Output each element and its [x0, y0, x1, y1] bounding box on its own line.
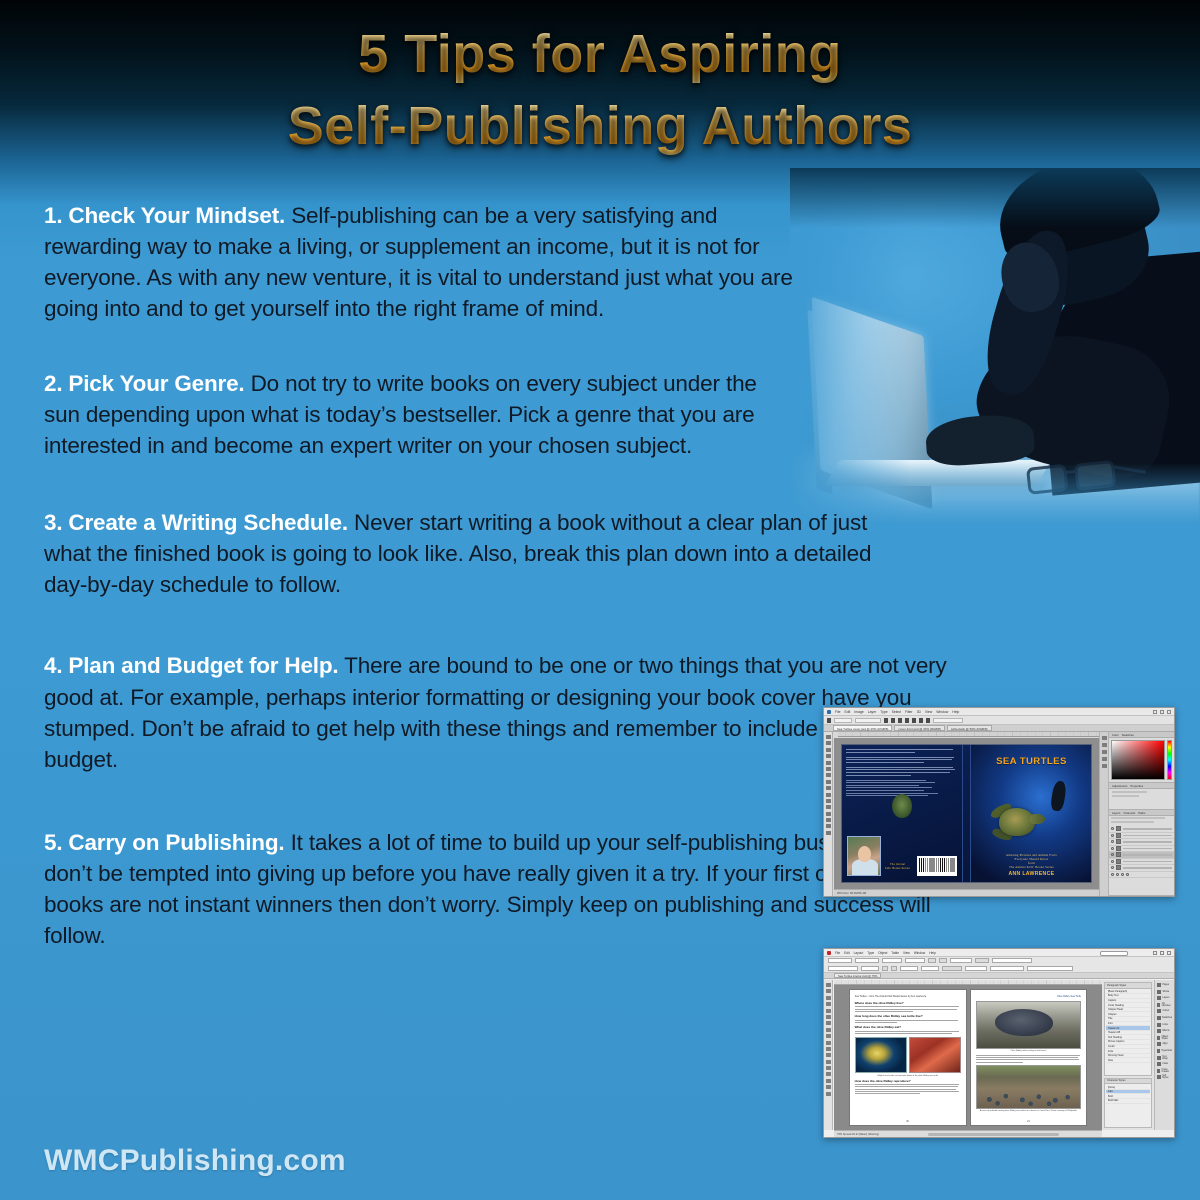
effects-icon: [1157, 1029, 1161, 1033]
ps-menu-select[interactable]: Select: [892, 710, 901, 714]
isbn-barcode: [917, 856, 957, 876]
ps-option-chip-3[interactable]: [933, 718, 963, 723]
layer-thumbnail: [1116, 865, 1121, 870]
photoshop-screenshot-book-cover: File Edit Image Layer Type Select Filter…: [823, 707, 1175, 897]
color-picker-hue-strip[interactable]: [1167, 740, 1172, 780]
tip-5-lead: 5. Carry on Publishing.: [44, 830, 284, 855]
adjustments-panel-body: [1109, 789, 1174, 809]
dock-label: Hyperlinks: [1161, 1050, 1172, 1052]
layer-thumbnail: [1116, 826, 1121, 831]
book-cover-author: ANN LAWRENCE: [971, 871, 1091, 877]
distribute-icon[interactable]: [926, 718, 930, 723]
pen-tool-icon[interactable]: [826, 799, 831, 803]
width-field[interactable]: [882, 958, 902, 963]
left-page-paragraph-3: [855, 1031, 961, 1034]
ps-option-chip-2[interactable]: [855, 718, 881, 723]
back-blurb-paragraph-2: [846, 757, 958, 763]
lasso-tool-icon[interactable]: [826, 741, 831, 745]
left-page-heading-3: What does the olive Ridley eat?: [855, 1025, 961, 1029]
layer-visibility-icon[interactable]: [1111, 853, 1114, 856]
id-menu-view[interactable]: View: [903, 951, 910, 955]
gap-tool-icon[interactable]: [826, 1002, 831, 1006]
layer-thumbnail: [1116, 839, 1121, 844]
layer-name: [1123, 835, 1172, 837]
align-right-icon[interactable]: [898, 718, 902, 723]
cc-libraries-icon: [1157, 1003, 1160, 1007]
dock-item-layers[interactable]: Layers: [1157, 996, 1172, 1000]
layer-mask-icon[interactable]: [1116, 873, 1119, 876]
indesign-canvas-spread[interactable]: Sea Turtles – from The Animal Kids’ Book…: [834, 985, 1102, 1130]
paragraph-styles-panel[interactable]: Paragraph Styles [Basic Paragraph] Body …: [1104, 982, 1152, 1076]
new-layer-icon[interactable]: [1111, 873, 1114, 876]
shear-button[interactable]: [939, 958, 947, 963]
tip-1-lead: 1. Check Your Mindset.: [44, 203, 285, 228]
move-tool-icon[interactable]: [827, 718, 831, 723]
indesign-control-bar[interactable]: [824, 957, 1174, 973]
right-page-folio: 21: [971, 1120, 1087, 1123]
left-page-folio: 20: [850, 1120, 966, 1123]
dock-item-align[interactable]: Align: [1157, 1042, 1172, 1046]
left-page-heading-1: Where does the olive Ridley live?: [855, 1001, 961, 1005]
color-panel-tab[interactable]: Color: [1112, 733, 1119, 737]
ps-menu-edit[interactable]: Edit: [844, 710, 850, 714]
x-position-field[interactable]: [828, 958, 852, 963]
dock-item-text-wrap[interactable]: Text Wrap: [1157, 1056, 1172, 1060]
layer-visibility-icon[interactable]: [1111, 860, 1114, 863]
paragraph-styles-list[interactable]: [Basic Paragraph] Body Text Caption Cros…: [1105, 989, 1151, 1065]
photoshop-panel-column[interactable]: Color Swatches Adjustments Properties: [1109, 732, 1174, 896]
ps-menu-help[interactable]: Help: [952, 710, 959, 714]
left-page-image-row[interactable]: [855, 1037, 961, 1073]
ps-menu-filter[interactable]: Filter: [905, 710, 913, 714]
ps-menu-image[interactable]: Image: [854, 710, 863, 714]
page-title: 5 Tips for Aspiring Self-Publishing Auth…: [0, 18, 1200, 163]
align-middle-icon[interactable]: [912, 718, 916, 723]
ps-menu-type[interactable]: Type: [880, 710, 887, 714]
glasses-temple-arm: [1112, 465, 1146, 474]
author-photo: [847, 836, 881, 876]
right-page-running-head: Olive Ridley Sea Turtle: [976, 995, 1082, 998]
id-menu-help[interactable]: Help: [929, 951, 936, 955]
indesign-document-tabs[interactable]: Sea Turtles interior.indd @ 75%: [824, 973, 1174, 979]
olive-ridley-turtle-photo[interactable]: [976, 1001, 1082, 1049]
marquee-tool-icon[interactable]: [826, 735, 831, 739]
tip-1-paragraph: 1. Check Your Mindset. Self-publishing c…: [44, 200, 804, 324]
object-styles-icon: [1157, 1036, 1160, 1040]
character-styles-panel[interactable]: Character Styles [None] Italic Bold Bold…: [1104, 1078, 1152, 1128]
dock-label: Object Styles: [1162, 1036, 1172, 1040]
footer-website: WMCPublishing.com: [44, 1144, 346, 1178]
foreground-color-swatch[interactable]: [826, 831, 831, 835]
rail-paths-icon[interactable]: [1102, 764, 1107, 768]
adjustments-panel[interactable]: Adjustments Properties: [1109, 783, 1174, 810]
indesign-menubar: File Edit Layout Type Object Table View …: [824, 949, 1174, 957]
fit-content-button[interactable]: [975, 958, 989, 963]
brush-tool-icon[interactable]: [826, 767, 831, 771]
title-line-2: Self-Publishing Authors: [0, 90, 1200, 162]
indesign-logo-icon: [827, 951, 831, 955]
dock-label: Swatches: [1162, 1017, 1172, 1019]
layer-visibility-icon[interactable]: [1111, 840, 1114, 843]
ps-menu-window[interactable]: Window: [936, 710, 948, 714]
dock-label: Index: [1163, 1063, 1169, 1065]
eraser-tool-icon[interactable]: [826, 780, 831, 784]
dock-label: Effects: [1163, 1030, 1170, 1032]
stroke-icon: [1157, 990, 1161, 994]
id-tab-1[interactable]: Sea Turtles interior.indd @ 75%: [834, 973, 881, 978]
book-back-cover: The Animal Kids’ Books Series: [842, 745, 962, 882]
align-left-icon[interactable]: [884, 718, 888, 723]
right-page-caption-bottom: A mass of arribada nesting olive Ridley …: [976, 1110, 1082, 1112]
properties-panel-tab[interactable]: Properties: [1130, 784, 1143, 788]
arribada-nesting-photo[interactable]: [976, 1065, 1082, 1109]
back-blurb-paragraph-1: [846, 749, 958, 753]
page-tool-icon[interactable]: [826, 996, 831, 1000]
right-page-paragraph-1: [976, 1055, 1082, 1063]
tip-3-lead: 3. Create a Writing Schedule.: [44, 510, 348, 535]
infographic-poster: 5 Tips for Aspiring Self-Publishing Auth…: [0, 0, 1200, 1200]
rectangle-tool-icon[interactable]: [826, 1047, 831, 1051]
healing-brush-icon[interactable]: [826, 761, 831, 765]
character-style-item[interactable]: Bold Italic: [1106, 1099, 1150, 1104]
silhouette-forearm: [974, 222, 1082, 401]
ps-tab-2[interactable]: cover-front.psd @ 33% (RGB/8): [894, 725, 945, 731]
id-menu-table[interactable]: Table: [891, 951, 899, 955]
stroke-colour-button[interactable]: [942, 966, 962, 971]
height-field[interactable]: [905, 958, 925, 963]
glasses-right-lens: [1074, 460, 1117, 491]
control-bar-row-1[interactable]: [828, 958, 1170, 964]
rail-history-icon[interactable]: [1102, 736, 1107, 740]
ps-close-icon[interactable]: [1167, 710, 1171, 714]
left-page-paragraph-4: [855, 1084, 961, 1094]
id-menu-layout[interactable]: Layout: [854, 951, 864, 955]
shape-tool-icon[interactable]: [826, 812, 831, 816]
font-size-field[interactable]: [861, 966, 879, 971]
jellyfish-photo[interactable]: [855, 1037, 907, 1073]
dock-item-cross-creator[interactable]: Cross-Creator: [1157, 1069, 1172, 1073]
paragraph-style-item[interactable]: Note: [1106, 1058, 1150, 1063]
object-style-field[interactable]: [992, 958, 1032, 963]
subtitle-line-4: The Animal Kids’ Books Series: [975, 865, 1087, 869]
rectangle-frame-tool-icon[interactable]: [826, 1041, 831, 1045]
left-page-heading-2: How long does the olive Ridley sea turtl…: [855, 1014, 961, 1018]
dock-item-swatches[interactable]: Swatches: [1157, 1016, 1172, 1020]
pages-icon: [1157, 983, 1161, 987]
tip-2-paragraph: 2. Pick Your Genre. Do not try to write …: [44, 368, 789, 461]
turtle-photo-shell: [995, 1009, 1053, 1036]
author-photo-face: [858, 846, 871, 862]
color-picker-field[interactable]: [1111, 740, 1165, 780]
clone-stamp-icon[interactable]: [826, 773, 831, 777]
spread-right-page[interactable]: Olive Ridley Sea Turtle Olive Ridley tur…: [970, 989, 1088, 1125]
ps-maximize-icon[interactable]: [1160, 710, 1164, 714]
eyedropper-tool-icon[interactable]: [826, 754, 831, 758]
baseline-shift-field[interactable]: [965, 966, 987, 971]
photoshop-status-bar: 25% Doc: 48.2M/96.4M: [834, 889, 1099, 896]
ps-menu-3d[interactable]: 3D: [917, 710, 921, 714]
glasses-left-lens: [1026, 464, 1069, 495]
id-close-icon[interactable]: [1167, 951, 1171, 955]
left-page-paragraph-2: [855, 1020, 961, 1023]
photoshop-status-text: 25% Doc: 48.2M/96.4M: [837, 891, 866, 895]
paragraph-style-field[interactable]: [1027, 966, 1073, 971]
id-minimize-icon[interactable]: [1153, 951, 1157, 955]
layer-thumbnail: [1116, 846, 1121, 851]
id-maximize-icon[interactable]: [1160, 951, 1164, 955]
silhouette-torso: [1032, 246, 1200, 495]
rail-libraries-icon[interactable]: [1102, 750, 1107, 754]
crop-tool-icon[interactable]: [826, 748, 831, 752]
layer-name: [1123, 828, 1172, 830]
links-icon: [1157, 1023, 1161, 1027]
photoshop-right-panels[interactable]: Color Swatches Adjustments Properties: [1099, 732, 1174, 896]
dock-label: Links: [1163, 1024, 1168, 1026]
hyperlinks-icon: [1157, 1049, 1160, 1053]
dock-label: Cross-Creator: [1161, 1069, 1172, 1073]
book-cover-subtitle: Amazing Pictures and Animal Facts Everyo…: [975, 853, 1087, 869]
layer-name: [1123, 848, 1172, 850]
layer-name: [1123, 854, 1172, 856]
control-bar-row-2[interactable]: [828, 966, 1170, 972]
dock-label: Align: [1163, 1043, 1168, 1045]
book-front-cover: SEA TURTLES Amazing Pictures and Animal …: [971, 745, 1091, 882]
layer-name: [1123, 841, 1172, 843]
dock-item-stroke[interactable]: Stroke: [1157, 990, 1172, 994]
blur-tool-icon[interactable]: [826, 793, 831, 797]
swatches-icon: [1157, 1016, 1161, 1020]
right-page-caption-top: Olive Ridley turtle resting on the beach: [976, 1050, 1082, 1052]
ps-tab-1[interactable]: Sea Turtles cover.psd @ 25% (RGB/8): [833, 725, 892, 731]
layer-thumbnail: [1116, 859, 1121, 864]
dock-item-effects[interactable]: Effects: [1157, 1029, 1172, 1033]
id-gradient-tool-icon[interactable]: [826, 1066, 831, 1070]
silhouette-hair: [988, 168, 1165, 266]
id-pen-tool-icon[interactable]: [826, 1028, 831, 1032]
left-page-heading-4: How does the olive Ridley reproduce?: [855, 1079, 961, 1083]
dock-label: Layers: [1163, 997, 1170, 999]
silhouette-hand-on-face: [995, 237, 1064, 317]
id-hand-tool-icon[interactable]: [826, 1085, 831, 1089]
text-wrap-icon: [1157, 1056, 1161, 1060]
id-window-controls[interactable]: [1153, 951, 1171, 955]
id-zoom-tool-icon[interactable]: [826, 1092, 831, 1096]
layers-panel-tab[interactable]: Layers: [1112, 811, 1120, 815]
photoshop-panel-rail[interactable]: [1100, 732, 1109, 896]
bold-button[interactable]: [882, 966, 888, 971]
indesign-right-panels[interactable]: Paragraph Styles [Basic Paragraph] Body …: [1102, 980, 1174, 1130]
indesign-panel-dock[interactable]: Pages Stroke Layers CC Libraries Colour …: [1154, 980, 1174, 1130]
tip-4-lead: 4. Plan and Budget for Help.: [44, 653, 338, 678]
colour-icon: [1157, 1009, 1161, 1013]
tip-item-4: 4. Plan and Budget for Help. There are b…: [44, 650, 949, 774]
character-styles-list[interactable]: [None] Italic Bold Bold Italic: [1105, 1084, 1151, 1104]
tip-4-paragraph: 4. Plan and Budget for Help. There are b…: [44, 650, 949, 774]
align-center-icon[interactable]: [891, 718, 895, 723]
id-menu-object[interactable]: Object: [878, 951, 887, 955]
ps-window-controls[interactable]: [1153, 710, 1171, 714]
paths-panel-tab[interactable]: Paths: [1138, 811, 1145, 815]
adjustments-panel-tab[interactable]: Adjustments: [1112, 784, 1127, 788]
glasses-bridge: [1066, 470, 1077, 474]
ps-minimize-icon[interactable]: [1153, 710, 1157, 714]
y-position-field[interactable]: [855, 958, 879, 963]
leading-field[interactable]: [900, 966, 918, 971]
scissors-tool-icon[interactable]: [826, 1053, 831, 1057]
id-type-tool-icon[interactable]: [826, 1015, 831, 1019]
hand-tool-icon[interactable]: [826, 818, 831, 822]
stroke-weight-field[interactable]: [950, 958, 972, 963]
dock-label: Cell Styles: [1162, 1075, 1172, 1079]
photoshop-options-bar[interactable]: [824, 716, 1174, 725]
series-label-line-2: Kids’ Books Series: [881, 867, 915, 870]
indesign-status-text: 75% Spread 20-21 [Basic] (Working): [837, 1133, 879, 1136]
note-tool-icon[interactable]: [826, 1072, 831, 1076]
align-icon: [1157, 1042, 1161, 1046]
cross-creator-icon: [1157, 1069, 1160, 1073]
channels-panel-tab[interactable]: Channels: [1123, 811, 1135, 815]
dock-item-hyperlinks[interactable]: Hyperlinks: [1157, 1049, 1172, 1053]
selection-tool-icon[interactable]: [826, 983, 831, 987]
gradient-tool-icon[interactable]: [826, 786, 831, 790]
zoom-tool-icon[interactable]: [826, 824, 831, 828]
dock-item-cell-styles[interactable]: Cell Styles: [1157, 1075, 1172, 1079]
index-icon: [1157, 1062, 1161, 1066]
indesign-tool-palette[interactable]: [824, 980, 833, 1130]
rotate-button[interactable]: [928, 958, 936, 963]
tip-item-3: 3. Create a Writing Schedule. Never star…: [44, 507, 914, 600]
tip-item-2: 2. Pick Your Genre. Do not try to write …: [44, 368, 789, 461]
pencil-tool-icon[interactable]: [826, 1034, 831, 1038]
dock-item-object-styles[interactable]: Object Styles: [1157, 1036, 1172, 1040]
layer-visibility-icon[interactable]: [1111, 866, 1114, 869]
book-spine: [962, 745, 972, 882]
silhouette-head: [992, 168, 1158, 316]
color-panel[interactable]: Color Swatches: [1109, 732, 1174, 783]
italic-button[interactable]: [891, 966, 897, 971]
layer-visibility-icon[interactable]: [1111, 847, 1114, 850]
photoshop-horizontal-ruler: [838, 732, 1099, 737]
back-cover-turtle-image: [892, 794, 912, 818]
scuba-diver-silhouette: [1050, 780, 1068, 812]
character-style-field[interactable]: [990, 966, 1024, 971]
dock-item-links[interactable]: Links: [1157, 1023, 1172, 1027]
tracking-field[interactable]: [921, 966, 939, 971]
dock-label: Text Wrap: [1162, 1056, 1172, 1060]
back-cover-series-label: The Animal Kids’ Books Series: [881, 863, 915, 870]
layer-visibility-icon[interactable]: [1111, 827, 1114, 830]
dock-item-pages[interactable]: Pages: [1157, 983, 1172, 987]
left-page-running-head: Sea Turtles – from The Animal Kids’ Book…: [855, 995, 961, 998]
layers-filter-row[interactable]: [1109, 816, 1174, 826]
layers-panel[interactable]: Layers Channels Paths: [1109, 810, 1174, 896]
photoshop-canvas[interactable]: The Animal Kids’ Books Series SEA TURTLE…: [834, 738, 1099, 889]
dock-item-index[interactable]: Index: [1157, 1062, 1172, 1066]
line-tool-icon[interactable]: [826, 1021, 831, 1025]
layer-thumbnail: [1116, 852, 1121, 857]
free-transform-tool-icon[interactable]: [826, 1060, 831, 1064]
dock-label: Colour: [1163, 1010, 1170, 1012]
ps-menu-layer[interactable]: Layer: [868, 710, 876, 714]
dock-item-cc-libraries[interactable]: CC Libraries: [1157, 1003, 1172, 1007]
align-top-icon[interactable]: [905, 718, 909, 723]
left-page-paragraph-1: [855, 1006, 961, 1011]
spread-left-page[interactable]: Sea Turtles – from The Animal Kids’ Book…: [849, 989, 967, 1125]
font-family-field[interactable]: [828, 966, 858, 971]
swatches-panel-tab[interactable]: Swatches: [1122, 733, 1134, 737]
delete-layer-icon[interactable]: [1126, 873, 1129, 876]
book-cover-title: SEA TURTLES: [996, 756, 1067, 767]
ps-menu-view[interactable]: View: [925, 710, 932, 714]
sea-turtle-image: [988, 805, 1050, 839]
dock-label: Stroke: [1163, 991, 1170, 993]
layer-name: [1123, 861, 1172, 863]
rail-actions-icon[interactable]: [1102, 743, 1107, 747]
type-tool-icon[interactable]: [826, 805, 831, 809]
ps-menu-file[interactable]: File: [835, 710, 840, 714]
tip-2-lead: 2. Pick Your Genre.: [44, 371, 244, 396]
id-menu-edit[interactable]: Edit: [844, 951, 850, 955]
silhouette-arm: [966, 318, 1179, 487]
indesign-status-bar: 75% Spread 20-21 [Basic] (Working): [834, 1130, 1102, 1137]
photoshop-logo-icon: [827, 710, 831, 714]
color-picker[interactable]: [1109, 738, 1174, 782]
photoshop-menubar: File Edit Image Layer Type Select Filter…: [824, 708, 1174, 716]
layers-panel-footer-toolbar[interactable]: [1109, 872, 1174, 879]
layer-thumbnail: [1116, 833, 1121, 838]
horizontal-scrollbar[interactable]: [928, 1133, 1059, 1136]
dock-item-colour[interactable]: Colour: [1157, 1009, 1172, 1013]
title-line-1: 5 Tips for Aspiring: [0, 18, 1200, 90]
id-eyedropper-tool-icon[interactable]: [826, 1079, 831, 1083]
direct-selection-tool-icon[interactable]: [826, 989, 831, 993]
dock-label: CC Libraries: [1162, 1003, 1172, 1007]
left-page-caption: Jellyfish and crabs are favourite foods …: [855, 1075, 961, 1077]
photoshop-tool-palette[interactable]: [824, 732, 833, 896]
ps-option-chip-1[interactable]: [834, 718, 852, 723]
layer-visibility-icon[interactable]: [1111, 834, 1114, 837]
rail-brushes-icon[interactable]: [1102, 757, 1107, 761]
back-blurb-paragraph-3: [846, 767, 958, 776]
photoshop-document-tabs[interactable]: Sea Turtles cover.psd @ 25% (RGB/8) cove…: [824, 725, 1174, 732]
dock-label: Pages: [1163, 984, 1170, 986]
id-menu-file[interactable]: File: [835, 951, 840, 955]
book-cover-artboard[interactable]: The Animal Kids’ Books Series SEA TURTLE…: [841, 744, 1093, 883]
cell-styles-icon: [1157, 1075, 1161, 1079]
ps-tab-3[interactable]: turtle-back @ 50% (RGB/8): [947, 725, 992, 731]
adobe-stock-search-input[interactable]: [1100, 951, 1128, 956]
indesign-screenshot-book-interior: File Edit Layout Type Object Table View …: [823, 948, 1175, 1138]
layers-icon: [1157, 996, 1161, 1000]
content-collector-icon[interactable]: [826, 1009, 831, 1013]
tip-item-1: 1. Check Your Mindset. Self-publishing c…: [44, 200, 804, 324]
id-menu-window[interactable]: Window: [914, 951, 925, 955]
id-menu-type[interactable]: Type: [867, 951, 874, 955]
crab-photo[interactable]: [909, 1037, 961, 1073]
layer-name: [1123, 867, 1172, 869]
indesign-styles-column[interactable]: Paragraph Styles [Basic Paragraph] Body …: [1102, 980, 1154, 1130]
align-bottom-icon[interactable]: [919, 718, 923, 723]
layer-group-icon[interactable]: [1121, 873, 1124, 876]
turtle-head: [1030, 814, 1045, 824]
tip-3-paragraph: 3. Create a Writing Schedule. Never star…: [44, 507, 914, 600]
